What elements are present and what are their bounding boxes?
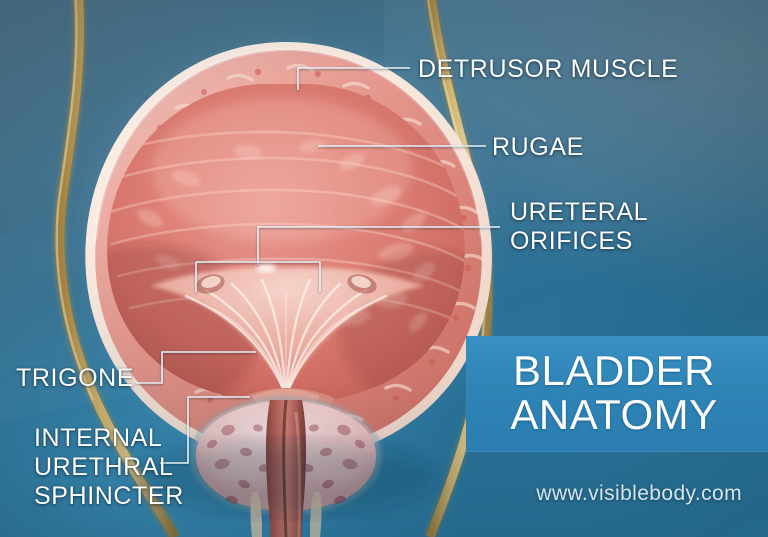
title-line-1: BLADDER bbox=[513, 349, 715, 393]
label-rugae: RUGAE bbox=[492, 133, 584, 162]
label-detrusor-muscle: DETRUSOR MUSCLE bbox=[418, 55, 678, 84]
leader-detrusor-muscle bbox=[298, 68, 410, 90]
leader-ureteral-orifices bbox=[258, 227, 500, 265]
leader-trigone bbox=[136, 352, 256, 383]
bladder-anatomy-illustration: DETRUSOR MUSCLE RUGAE URETERAL ORIFICES … bbox=[0, 0, 768, 537]
label-ureteral-orifices: URETERAL ORIFICES bbox=[510, 198, 648, 256]
leader-ureteral-orifices-bracket bbox=[196, 262, 320, 292]
title-banner-text: BLADDER ANATOMY bbox=[466, 334, 762, 452]
title-line-2: ANATOMY bbox=[510, 393, 717, 437]
watermark-url: www.visiblebody.com bbox=[0, 482, 742, 506]
label-trigone: TRIGONE bbox=[16, 364, 134, 393]
